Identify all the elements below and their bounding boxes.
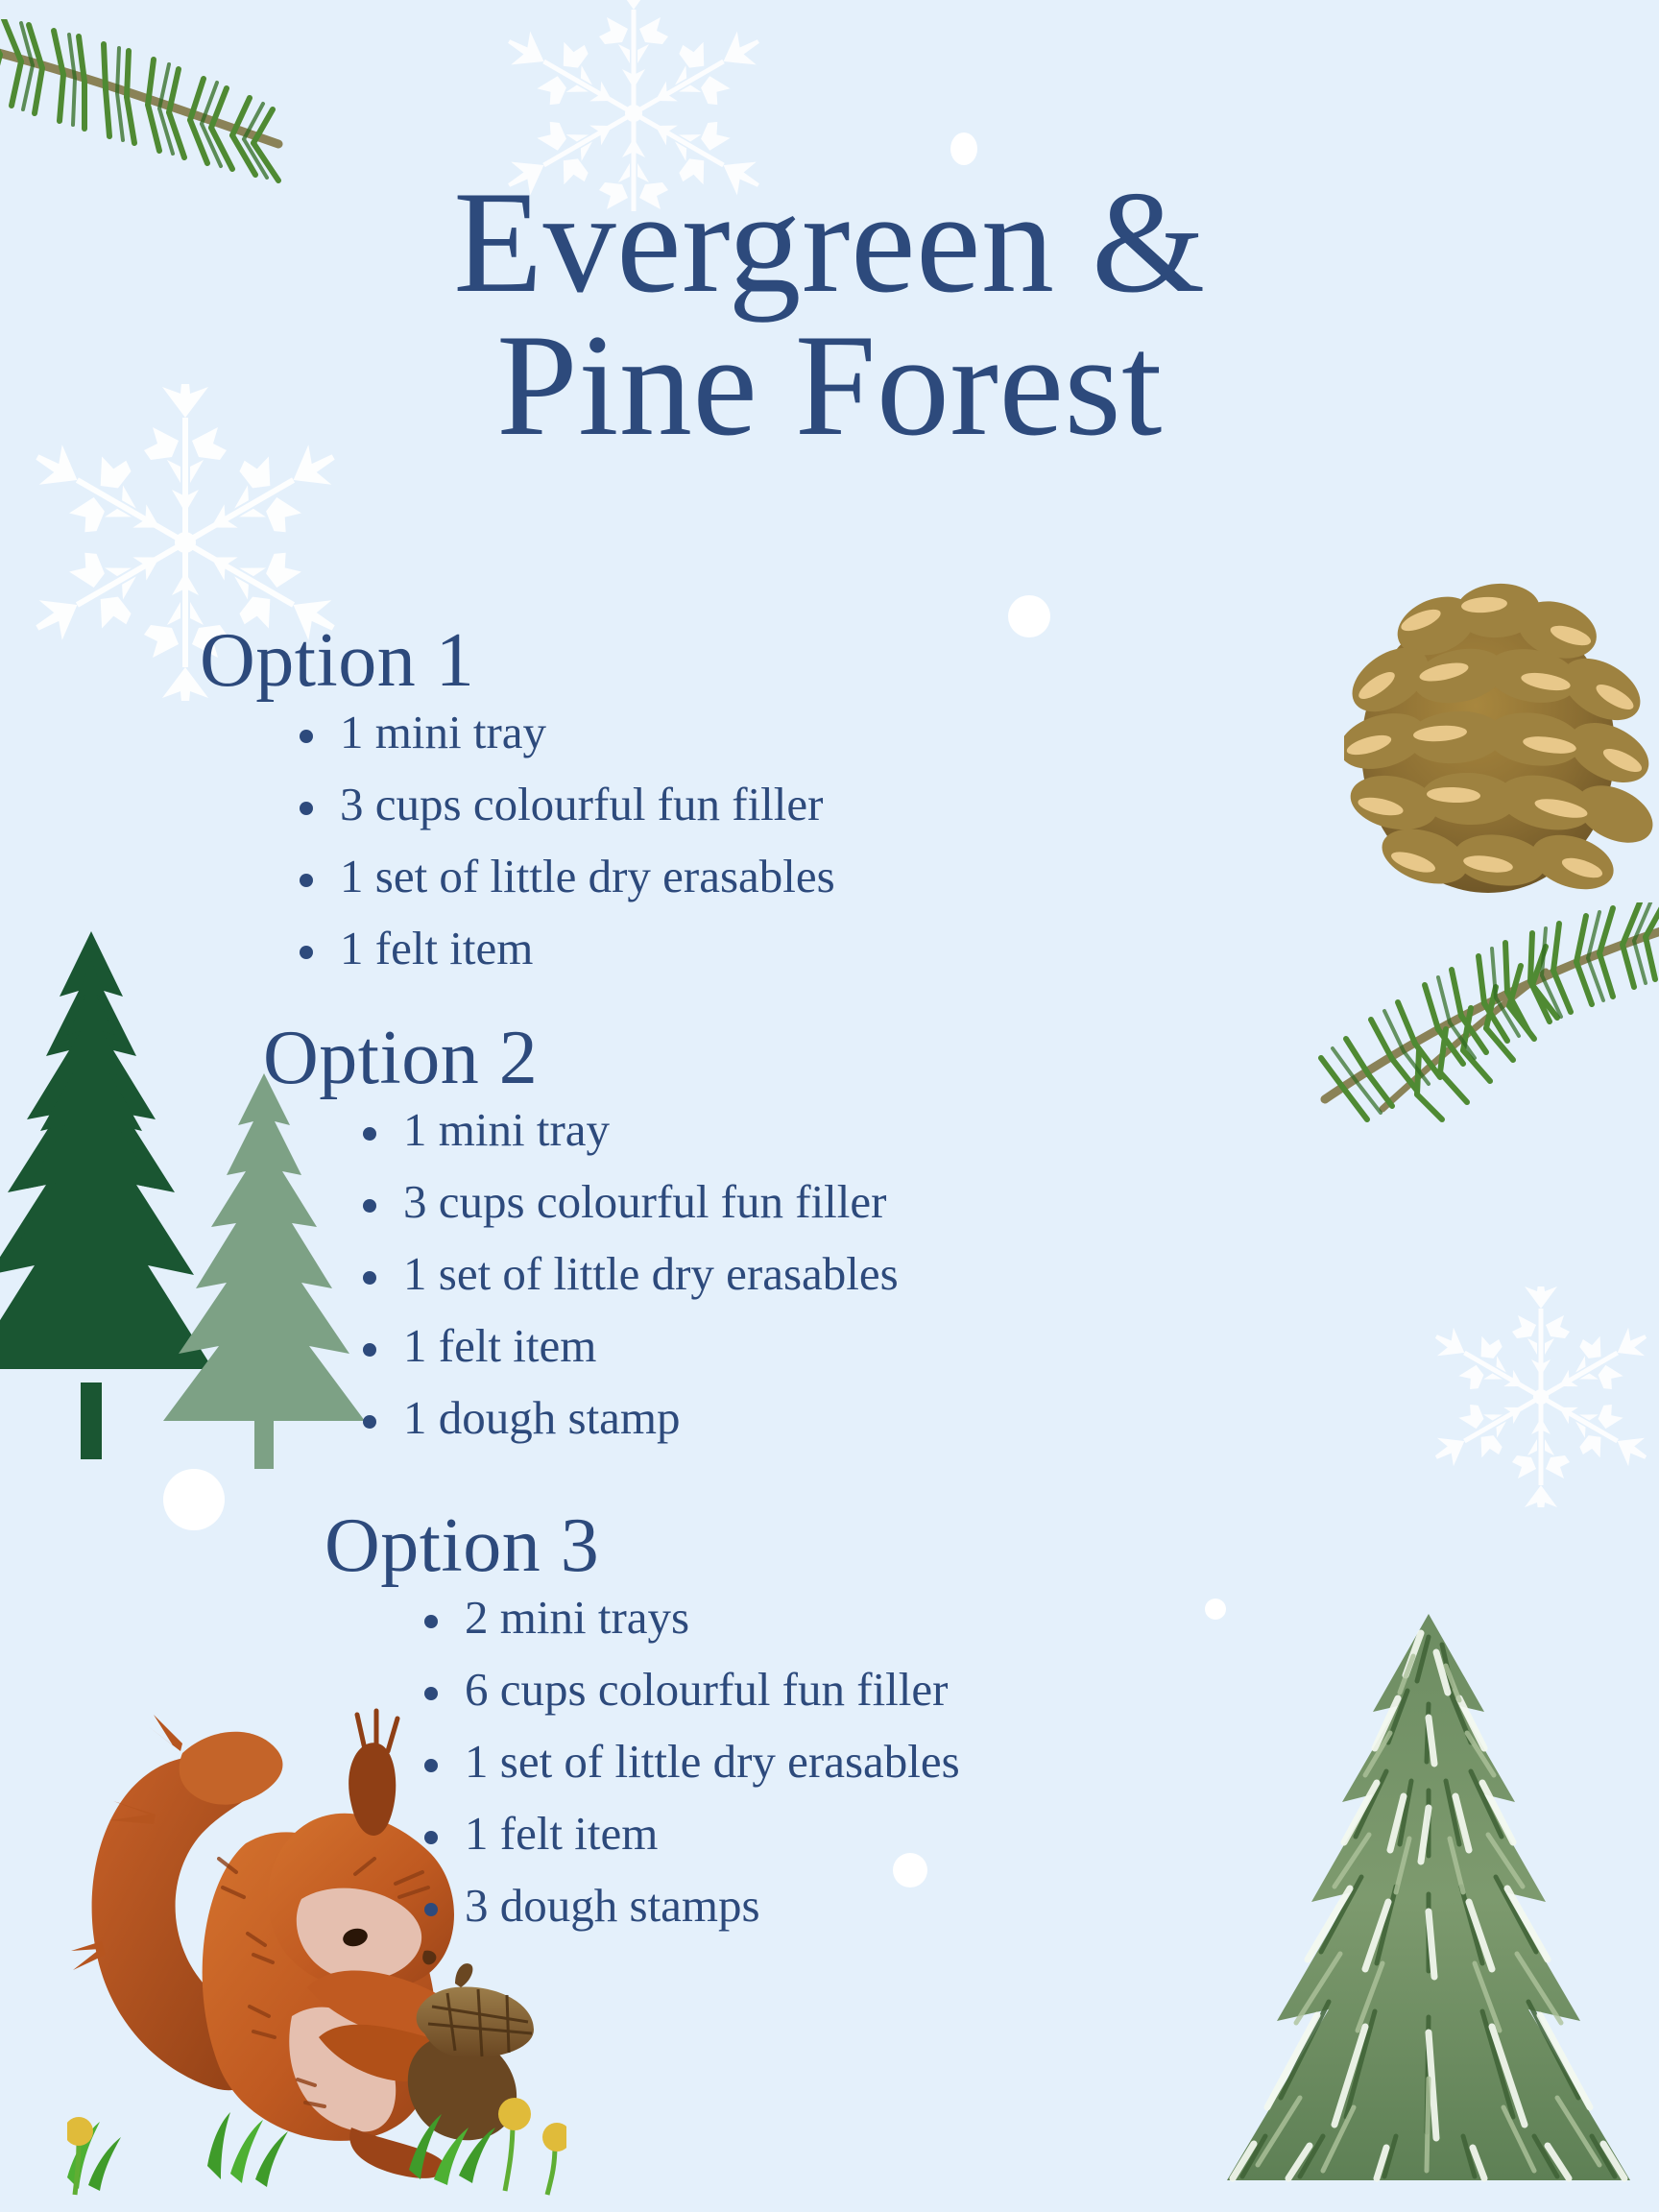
page-title: Evergreen & Pine Forest <box>0 171 1659 457</box>
poster-content: Evergreen & Pine Forest Option 1 1 mini … <box>0 0 1659 2212</box>
option-section-1: Option 1 1 mini tray 3 cups colourful fu… <box>184 622 835 997</box>
option-2-list: 1 mini tray 3 cups colourful fun filler … <box>359 1106 899 1441</box>
option-3-heading: Option 3 <box>325 1507 960 1584</box>
list-item: 1 set of little dry erasables <box>296 853 835 900</box>
option-section-2: Option 2 1 mini tray 3 cups colourful fu… <box>248 1020 899 1466</box>
option-2-heading: Option 2 <box>263 1020 899 1096</box>
title-line-1: Evergreen & <box>453 161 1205 323</box>
list-item: 1 set of little dry erasables <box>359 1250 899 1297</box>
list-item: 1 dough stamp <box>359 1394 899 1441</box>
option-3-list: 2 mini trays 6 cups colourful fun filler… <box>421 1594 960 1929</box>
list-item: 1 mini tray <box>359 1106 899 1153</box>
option-section-3: Option 3 2 mini trays 6 cups colourful f… <box>309 1507 960 1954</box>
option-1-list: 1 mini tray 3 cups colourful fun filler … <box>296 709 835 972</box>
list-item: 2 mini trays <box>421 1594 960 1641</box>
list-item: 3 dough stamps <box>421 1882 960 1929</box>
list-item: 1 felt item <box>296 925 835 972</box>
poster-canvas: Evergreen & Pine Forest Option 1 1 mini … <box>0 0 1659 2212</box>
list-item: 3 cups colourful fun filler <box>296 781 835 828</box>
option-1-heading: Option 1 <box>200 622 835 699</box>
list-item: 6 cups colourful fun filler <box>421 1666 960 1713</box>
list-item: 1 felt item <box>359 1322 899 1369</box>
list-item: 1 set of little dry erasables <box>421 1738 960 1785</box>
list-item: 3 cups colourful fun filler <box>359 1178 899 1225</box>
title-line-2: Pine Forest <box>0 314 1659 457</box>
list-item: 1 mini tray <box>296 709 835 756</box>
list-item: 1 felt item <box>421 1810 960 1857</box>
